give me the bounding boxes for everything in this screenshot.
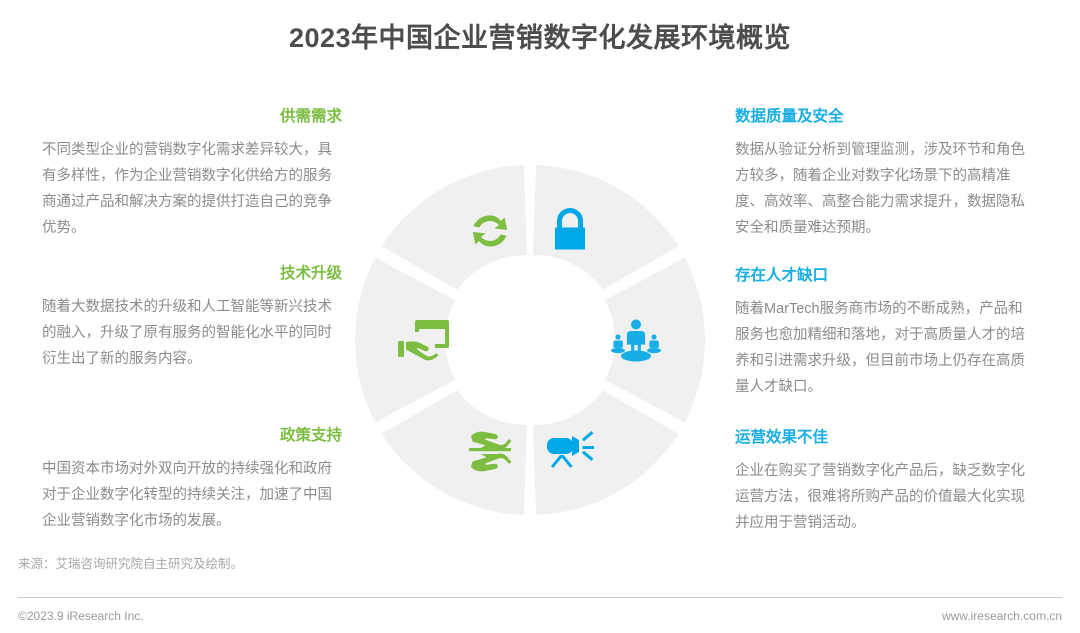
block-heading-talent-gap: 存在人才缺口 [735,265,1035,287]
block-heading-supply-demand: 供需需求 [42,106,342,128]
ring-segment-tech-upgrade [355,258,455,422]
ring-segment-supply-demand [382,165,527,290]
block-body-poor-operations: 企业在购买了营销数字化产品后，缺乏数字化运营方法，很难将所购产品的价值最大化实现… [735,458,1035,536]
footer-website[interactable]: www.iresearch.com.cn [942,609,1062,623]
ring-segment-poor-operations [533,390,678,515]
block-heading-tech-upgrade: 技术升级 [42,263,342,285]
ring-segment-policy-support [382,390,527,515]
block-heading-policy-support: 政策支持 [42,425,342,447]
info-block-tech-upgrade: 技术升级 随着大数据技术的升级和人工智能等新兴技术的融入，升级了原有服务的智能化… [42,263,342,372]
info-block-supply-demand: 供需需求 不同类型企业的营销数字化需求差异较大，具有多样性，作为企业营销数字化供… [42,106,342,241]
block-heading-poor-operations: 运营效果不佳 [735,427,1035,449]
source-note: 来源：艾瑞咨询研究院自主研究及绘制。 [18,553,243,572]
hexagonal-ring-diagram [355,165,705,515]
page-title: 2023年中国企业营销数字化发展环境概览 [0,16,1080,55]
block-body-tech-upgrade: 随着大数据技术的升级和人工智能等新兴技术的融入，升级了原有服务的智能化水平的同时… [42,294,342,372]
block-body-policy-support: 中国资本市场对外双向开放的持续强化和政府对于企业数字化转型的持续关注，加速了中国… [42,456,342,534]
footer-copyright: ©2023.9 iResearch Inc. [18,609,144,623]
info-block-poor-operations: 运营效果不佳 企业在购买了营销数字化产品后，缺乏数字化运营方法，很难将所购产品的… [735,427,1035,536]
info-block-talent-gap: 存在人才缺口 随着MarTech服务商市场的不断成熟，产品和服务也愈加精细和落地… [735,265,1035,400]
block-body-talent-gap: 随着MarTech服务商市场的不断成熟，产品和服务也愈加精细和落地，对于高质量人… [735,296,1035,400]
ring-segment-data-quality-security [533,165,678,290]
block-body-data-quality-security: 数据从验证分析到管理监测，涉及环节和角色方较多，随着企业对数字化场景下的高精准度… [735,137,1035,241]
footer-divider [18,597,1062,598]
block-heading-data-quality-security: 数据质量及安全 [735,106,1035,128]
block-body-supply-demand: 不同类型企业的营销数字化需求差异较大，具有多样性，作为企业营销数字化供给方的服务… [42,137,342,241]
ring-segment-talent-gap [605,258,705,422]
info-block-data-quality-security: 数据质量及安全 数据从验证分析到管理监测，涉及环节和角色方较多，随着企业对数字化… [735,106,1035,241]
info-block-policy-support: 政策支持 中国资本市场对外双向开放的持续强化和政府对于企业数字化转型的持续关注，… [42,425,342,534]
